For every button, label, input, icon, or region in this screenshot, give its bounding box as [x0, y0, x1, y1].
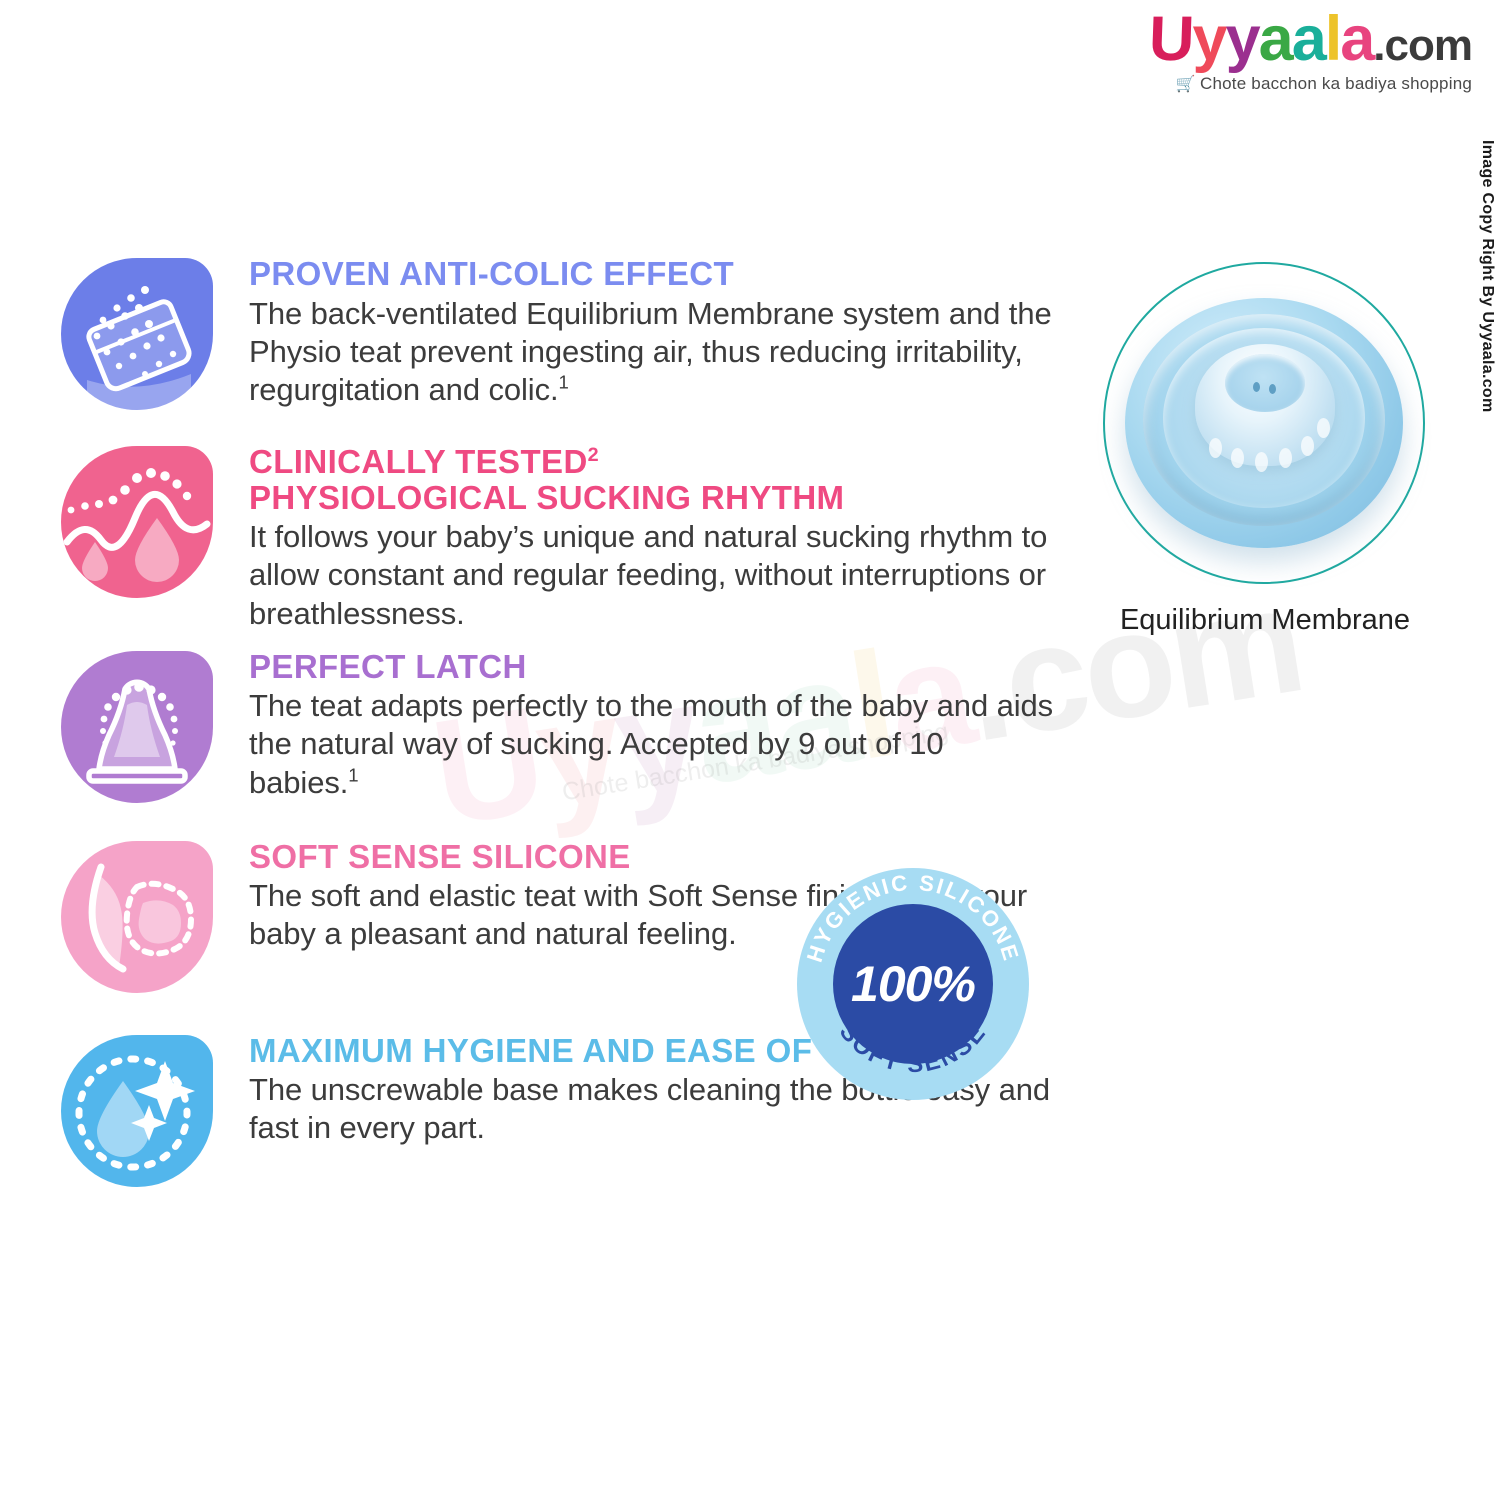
logo-letter-u: U: [1148, 8, 1194, 71]
copyright-notice: Image Copy Right By Uyyaala.com: [1478, 140, 1496, 413]
logo-letter-a2: a: [1292, 8, 1325, 71]
logo-tagline-text: Chote bacchon ka badiya shopping: [1200, 74, 1472, 93]
feature-title-sup: 2: [588, 444, 599, 466]
soft-sense-silicone-teat-icon: [55, 831, 231, 1009]
membrane-nub-4: [1279, 448, 1292, 468]
feature-title-line2: PHYSIOLOGICAL SUCKING RHYTHM: [249, 479, 844, 516]
site-logo[interactable]: Uyyaala.com 🛒Chote bacchon ka badiya sho…: [1149, 8, 1472, 93]
feature-body: The back-ventilated Equilibrium Membrane…: [249, 295, 1055, 409]
logo-tagline: 🛒Chote bacchon ka badiya shopping: [1149, 75, 1472, 93]
feature-footnote: 1: [348, 764, 358, 785]
feature-title: PERFECT LATCH: [249, 649, 1055, 685]
feature-title: CLINICALLY TESTED2 PHYSIOLOGICAL SUCKING…: [249, 444, 1055, 515]
membrane-dome-top: [1225, 354, 1305, 412]
logo-domain-suffix: .com: [1373, 24, 1472, 68]
logo-letter-y1: y: [1193, 8, 1226, 71]
product-caption: Equilibrium Membrane: [1090, 604, 1440, 637]
feature-body: The teat adapts perfectly to the mouth o…: [249, 687, 1055, 801]
shopping-cart-icon: 🛒: [1176, 76, 1196, 93]
logo-letter-a3: a: [1340, 8, 1373, 71]
membrane-nub-2: [1231, 448, 1244, 468]
membrane-vent-hole-2: [1269, 384, 1276, 394]
membrane-nub-5: [1301, 436, 1314, 456]
logo-wordmark: Uyyaala.com: [1149, 8, 1472, 71]
feature-footnote: 1: [559, 372, 569, 393]
sucking-rhythm-wave-icon: [55, 436, 231, 614]
badge-inner-circle: 100%: [833, 904, 993, 1064]
feature-item-sucking-rhythm: CLINICALLY TESTED2 PHYSIOLOGICAL SUCKING…: [55, 436, 1055, 633]
anti-colic-bottle-icon: [55, 248, 231, 426]
membrane-nub-1: [1209, 438, 1222, 458]
equilibrium-membrane-photo: [1103, 262, 1425, 584]
feature-item-anti-colic: PROVEN ANTI-COLIC EFFECT The back-ventil…: [55, 248, 1055, 426]
logo-letter-y2: y: [1226, 8, 1259, 71]
perfect-latch-teat-icon: [55, 641, 231, 819]
feature-title-line1: CLINICALLY TESTED: [249, 443, 588, 480]
feature-item-perfect-latch: PERFECT LATCH The teat adapts perfectly …: [55, 641, 1055, 819]
membrane-nub-3: [1255, 452, 1268, 472]
hygiene-cleaning-droplet-icon: [55, 1025, 231, 1203]
feature-body: It follows your baby’s unique and natura…: [249, 518, 1055, 632]
membrane-vent-hole-1: [1253, 382, 1260, 392]
membrane-nub-6: [1317, 418, 1330, 438]
logo-letter-l: l: [1325, 8, 1341, 71]
soft-sense-badge: HYGIENIC SILICONE SOFT SENSE 100%: [797, 868, 1029, 1100]
badge-percent-label: 100%: [851, 955, 975, 1013]
feature-title: PROVEN ANTI-COLIC EFFECT: [249, 256, 1055, 292]
logo-letter-a1: a: [1259, 8, 1292, 71]
